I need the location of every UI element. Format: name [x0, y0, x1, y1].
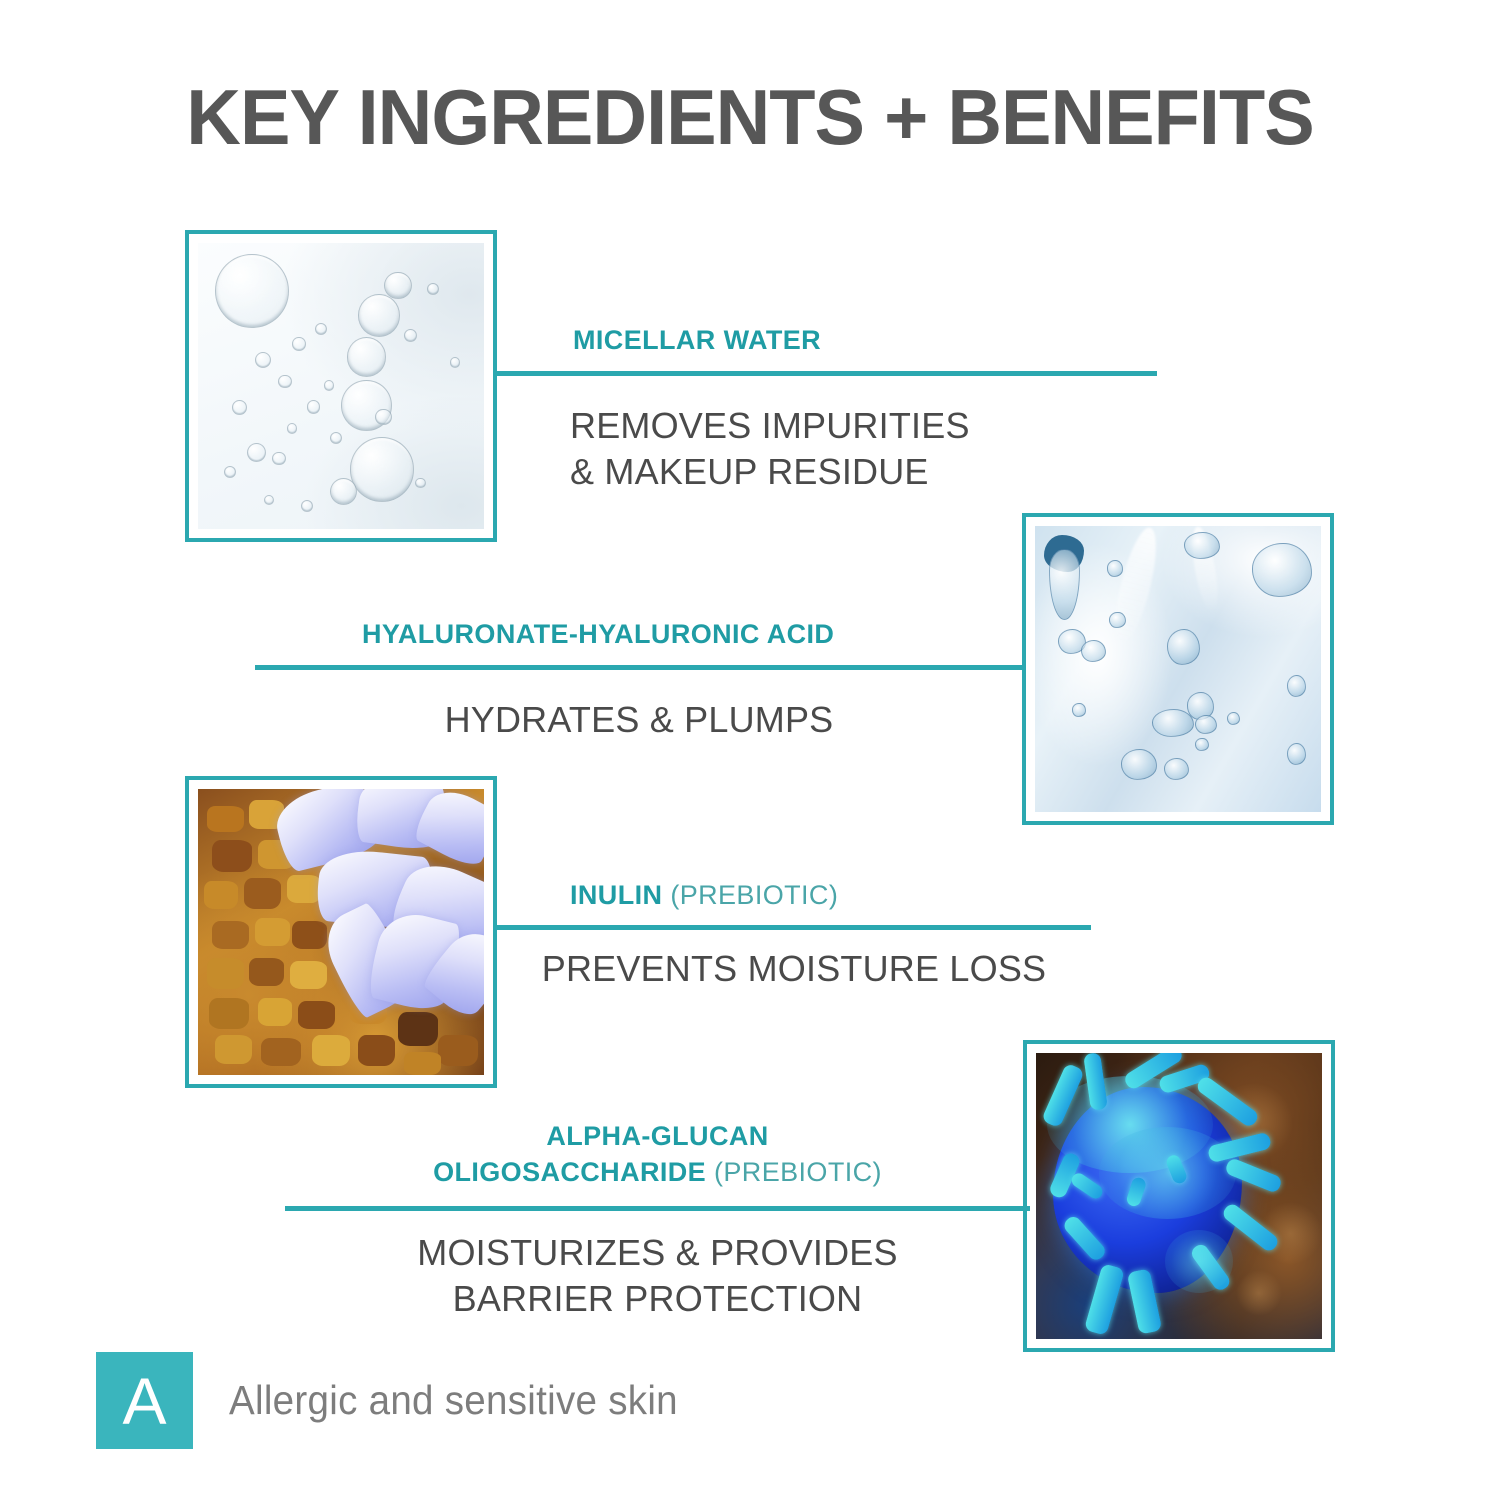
ingredient-image-hyaluronic-acid: [1022, 513, 1334, 825]
ingredient-benefit-1: REMOVES IMPURITIES & MAKEUP RESIDUE: [570, 403, 970, 495]
connector-line-4: [285, 1206, 1030, 1211]
ingredient-image-micellar-water: [185, 230, 497, 542]
footer-claim: A Allergic and sensitive skin: [96, 1352, 707, 1449]
ingredient-benefit-3: PREVENTS MOISTURE LOSS: [497, 946, 1091, 992]
hyaluronic-acid-gel-photo: [1035, 526, 1321, 812]
microbe-cell-photo: [1036, 1053, 1322, 1339]
connector-line-1: [497, 371, 1157, 376]
connector-line-2: [255, 665, 1023, 670]
ingredient-image-alpha-glucan: [1023, 1040, 1335, 1352]
ingredient-qualifier-3: (PREBIOTIC): [670, 880, 838, 910]
ingredient-name-3: INULIN (PREBIOTIC): [570, 880, 838, 911]
allergy-badge: A: [96, 1352, 193, 1449]
micellar-water-bubbles-photo: [198, 243, 484, 529]
ingredient-benefit-2: HYDRATES & PLUMPS: [255, 697, 1023, 743]
page-title: KEY INGREDIENTS + BENEFITS: [23, 72, 1478, 163]
ingredient-name-4: ALPHA-GLUCAN OLIGOSACCHARIDE (PREBIOTIC): [285, 1118, 1030, 1191]
ingredient-benefit-4: MOISTURIZES & PROVIDES BARRIER PROTECTIO…: [285, 1230, 1030, 1322]
ingredient-name-3-main: INULIN: [570, 880, 662, 910]
ingredient-image-inulin: [185, 776, 497, 1088]
ingredient-name-1: MICELLAR WATER: [573, 325, 821, 356]
chicory-root-flower-photo: [198, 789, 484, 1075]
ingredient-name-2: HYALURONATE-HYALURONIC ACID: [362, 619, 834, 650]
ingredient-qualifier-4: (PREBIOTIC): [714, 1157, 882, 1187]
footer-claim-text: Allergic and sensitive skin: [229, 1377, 678, 1424]
connector-line-3: [497, 925, 1091, 930]
